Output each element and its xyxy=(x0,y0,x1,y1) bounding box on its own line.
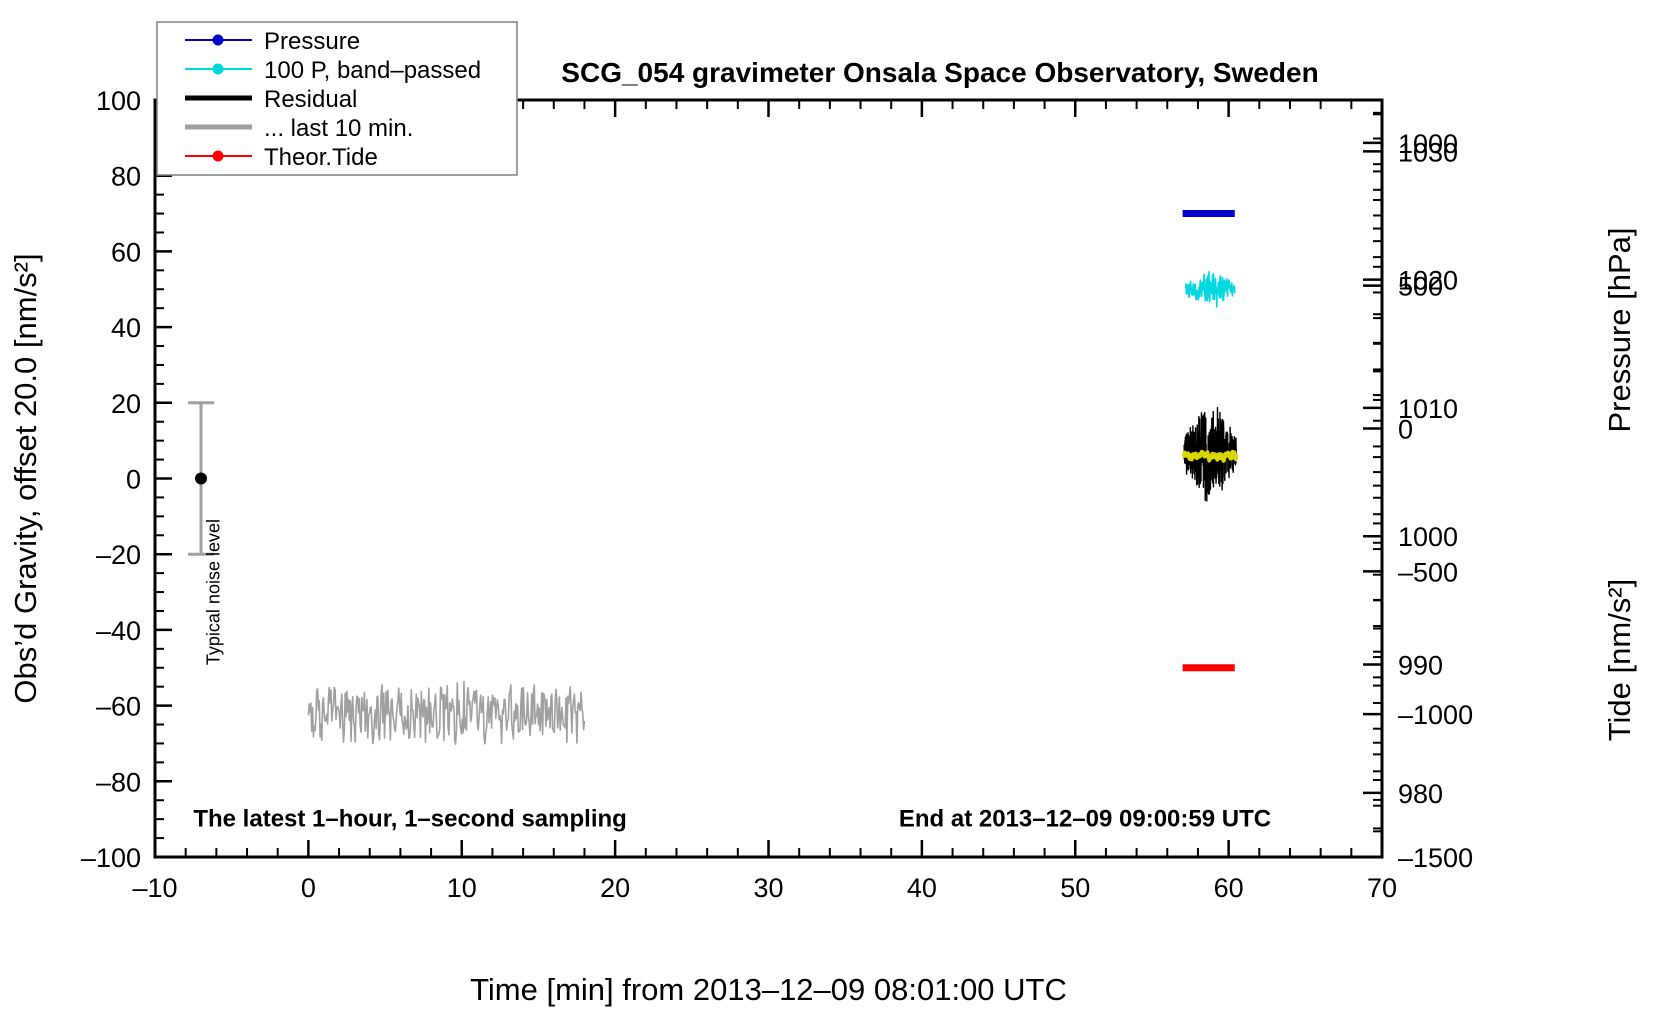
legend-label-0: Pressure xyxy=(264,28,360,55)
legend-label-1: 100 P, band–passed xyxy=(264,57,481,84)
y-left-tick-label: 100 xyxy=(96,86,141,116)
x-tick-label: 50 xyxy=(1060,873,1090,903)
x-tick-label: –10 xyxy=(132,873,177,903)
y-left-tick-label: 0 xyxy=(126,465,141,495)
y-axis-right-tide-title: Tide [nm/s²] xyxy=(1602,579,1637,742)
x-tick-label: 10 xyxy=(447,873,477,903)
plot-title: SCG_054 gravimeter Onsala Space Observat… xyxy=(561,57,1318,88)
noise-bar-center-point xyxy=(195,473,207,485)
y-right-tide-tick-label: –1000 xyxy=(1398,700,1473,730)
y-axis-right-pressure-title: Pressure [hPa] xyxy=(1602,227,1637,432)
y-left-tick-label: –60 xyxy=(96,692,141,722)
legend-label-4: Theor.Tide xyxy=(264,144,378,171)
y-left-tick-label: 80 xyxy=(111,162,141,192)
x-tick-label: 30 xyxy=(753,873,783,903)
end-time-note: End at 2013–12–09 09:00:59 UTC xyxy=(899,806,1271,833)
x-tick-label: 20 xyxy=(600,873,630,903)
y-right-tide-tick-label: 0 xyxy=(1398,415,1413,445)
y-right-tide-tick-label: –1500 xyxy=(1398,843,1473,873)
y-right-pressure-tick-label: 980 xyxy=(1398,779,1443,809)
noise-level-label: Typical noise level xyxy=(203,519,223,665)
series-100-p-band-passed xyxy=(1186,272,1235,307)
x-tick-label: 40 xyxy=(907,873,937,903)
y-left-tick-label: –40 xyxy=(96,616,141,646)
y-right-tide-tick-label: 1000 xyxy=(1398,129,1458,159)
gravimeter-plot-figure: –10010203040506070Time [min] from 2013–1… xyxy=(0,0,1660,1020)
y-right-pressure-tick-label: 1000 xyxy=(1398,522,1458,552)
y-left-tick-label: –20 xyxy=(96,540,141,570)
y-right-tide-tick-label: 500 xyxy=(1398,272,1443,302)
plot-canvas: –10010203040506070Time [min] from 2013–1… xyxy=(0,0,1660,1020)
legend-label-2: Residual xyxy=(264,86,357,113)
y-left-tick-label: 60 xyxy=(111,237,141,267)
y-left-tick-label: –80 xyxy=(96,767,141,797)
y-right-tide-tick-label: –500 xyxy=(1398,557,1458,587)
sampling-note: The latest 1–hour, 1–second sampling xyxy=(193,806,626,833)
legend-marker-1 xyxy=(213,64,224,75)
y-left-tick-label: 20 xyxy=(111,389,141,419)
x-tick-label: 60 xyxy=(1214,873,1244,903)
y-left-tick-label: 40 xyxy=(111,313,141,343)
legend-marker-4 xyxy=(213,151,224,162)
x-tick-label: 70 xyxy=(1367,873,1397,903)
x-tick-label: 0 xyxy=(301,873,316,903)
x-axis-title: Time [min] from 2013–12–09 08:01:00 UTC xyxy=(470,972,1067,1007)
series-last-10-min xyxy=(308,681,584,744)
y-axis-left-title: Obs’d Gravity, offset 20.0 [nm/s²] xyxy=(8,253,43,703)
legend-marker-0 xyxy=(213,35,224,46)
y-right-pressure-tick-label: 990 xyxy=(1398,651,1443,681)
y-left-tick-label: –100 xyxy=(81,843,141,873)
legend-label-3: ... last 10 min. xyxy=(264,115,413,142)
